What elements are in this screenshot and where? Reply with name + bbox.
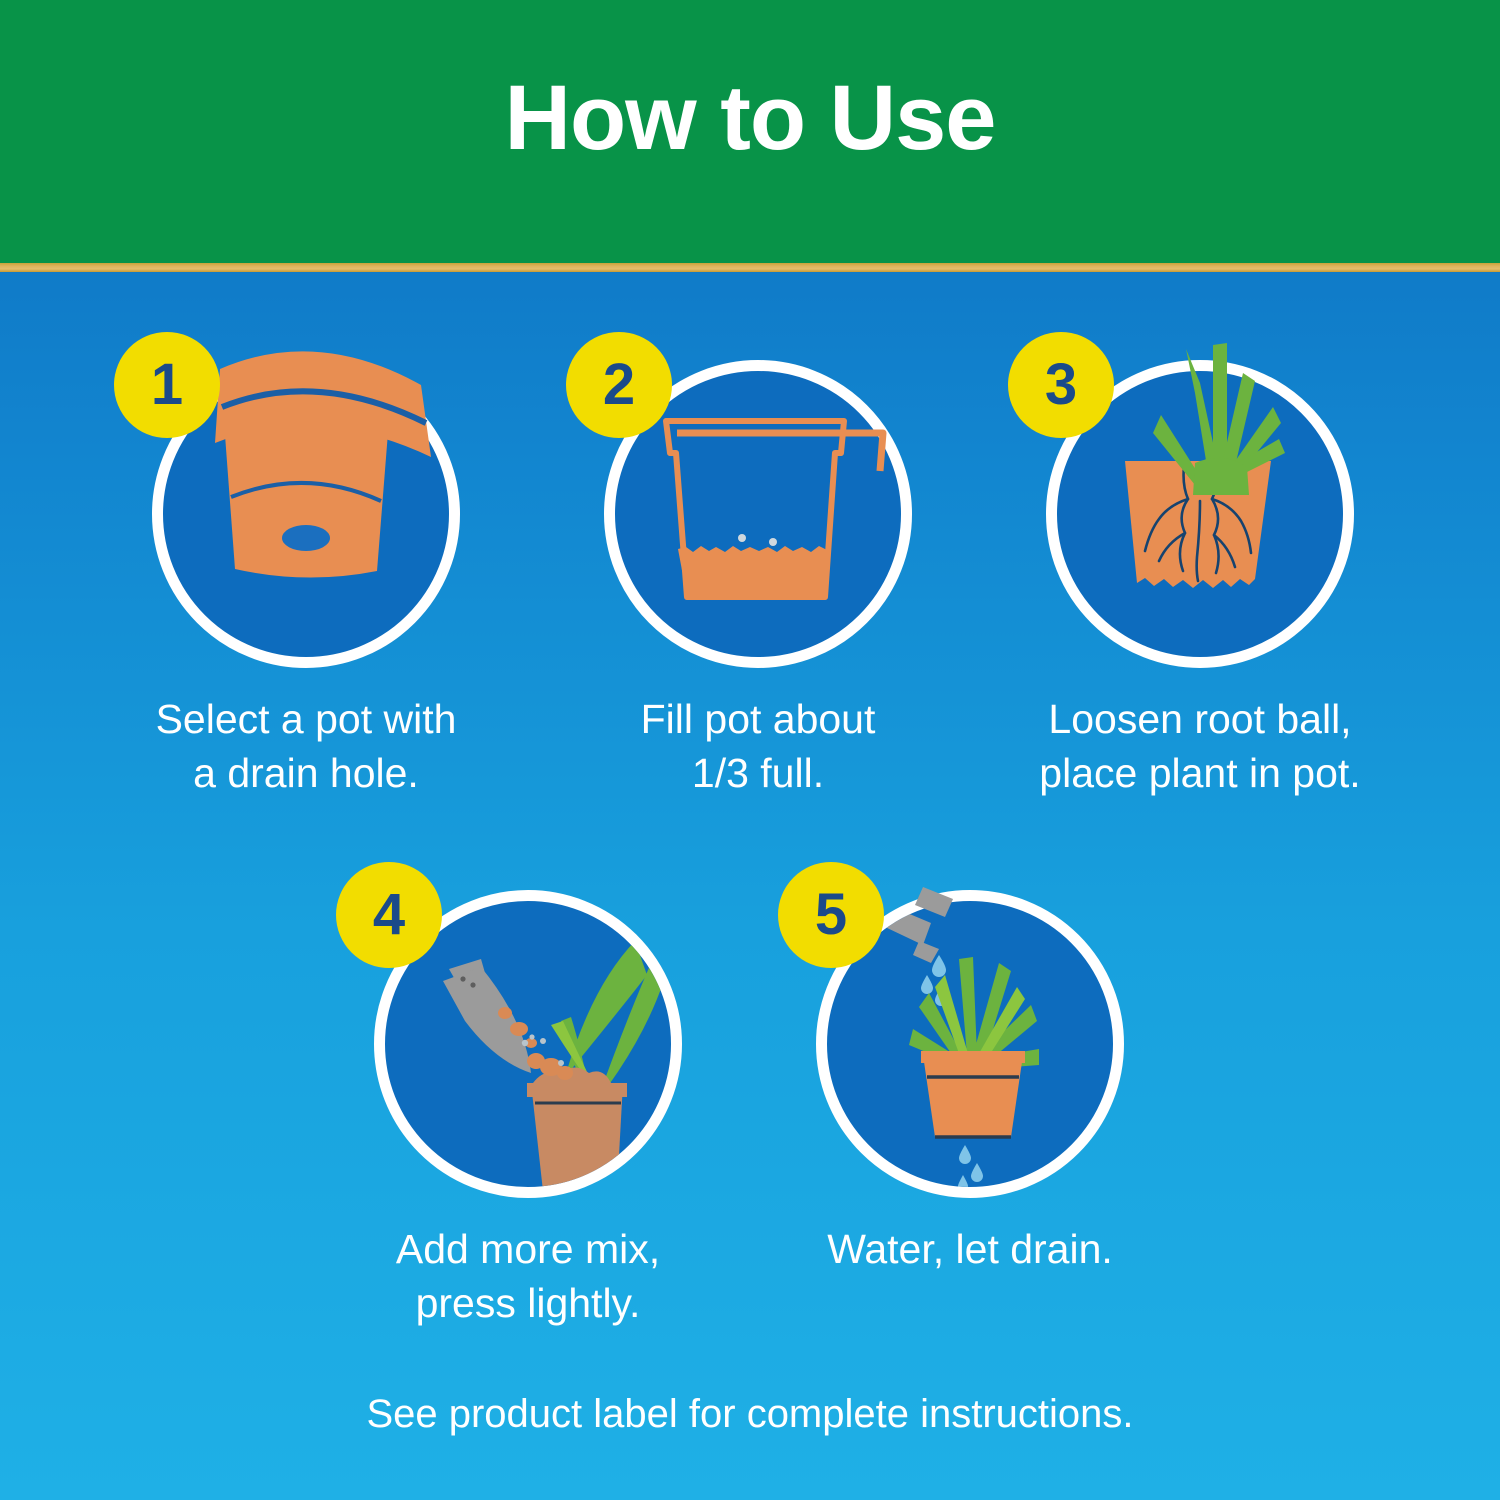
step-5-caption: Water, let drain. xyxy=(790,1222,1150,1276)
step-4-illustration: 4 xyxy=(374,890,682,1198)
step-1-illustration: 1 xyxy=(152,360,460,668)
step-2-illustration: 2 xyxy=(604,360,912,668)
step-5: 5 Water, let drain. xyxy=(790,890,1150,1276)
page-title: How to Use xyxy=(505,72,996,164)
step-3: 3 Loosen root ball, place plant in pot. xyxy=(1020,360,1380,800)
step-5-illustration: 5 xyxy=(816,890,1124,1198)
step-5-number-badge: 5 xyxy=(778,862,884,968)
header-band: How to Use xyxy=(0,0,1500,263)
step-1-caption: Select a pot with a drain hole. xyxy=(126,692,486,800)
step-4: 4 Add more mix, press lightly. xyxy=(348,890,708,1330)
step-1-number-badge: 1 xyxy=(114,332,220,438)
step-4-caption: Add more mix, press lightly. xyxy=(348,1222,708,1330)
step-3-caption: Loosen root ball, place plant in pot. xyxy=(1020,692,1380,800)
step-3-number-badge: 3 xyxy=(1008,332,1114,438)
step-3-illustration: 3 xyxy=(1046,360,1354,668)
step-4-number-badge: 4 xyxy=(336,862,442,968)
step-2-caption: Fill pot about 1/3 full. xyxy=(578,692,938,800)
footer-note: See product label for complete instructi… xyxy=(0,1392,1500,1437)
header-divider-rule xyxy=(0,263,1500,272)
infographic-page: How to Use xyxy=(0,0,1500,1500)
step-2: 2 Fill pot about 1/3 full. xyxy=(578,360,938,800)
step-2-number-badge: 2 xyxy=(566,332,672,438)
step-1: 1 Select a pot with a drain hole. xyxy=(126,360,486,800)
